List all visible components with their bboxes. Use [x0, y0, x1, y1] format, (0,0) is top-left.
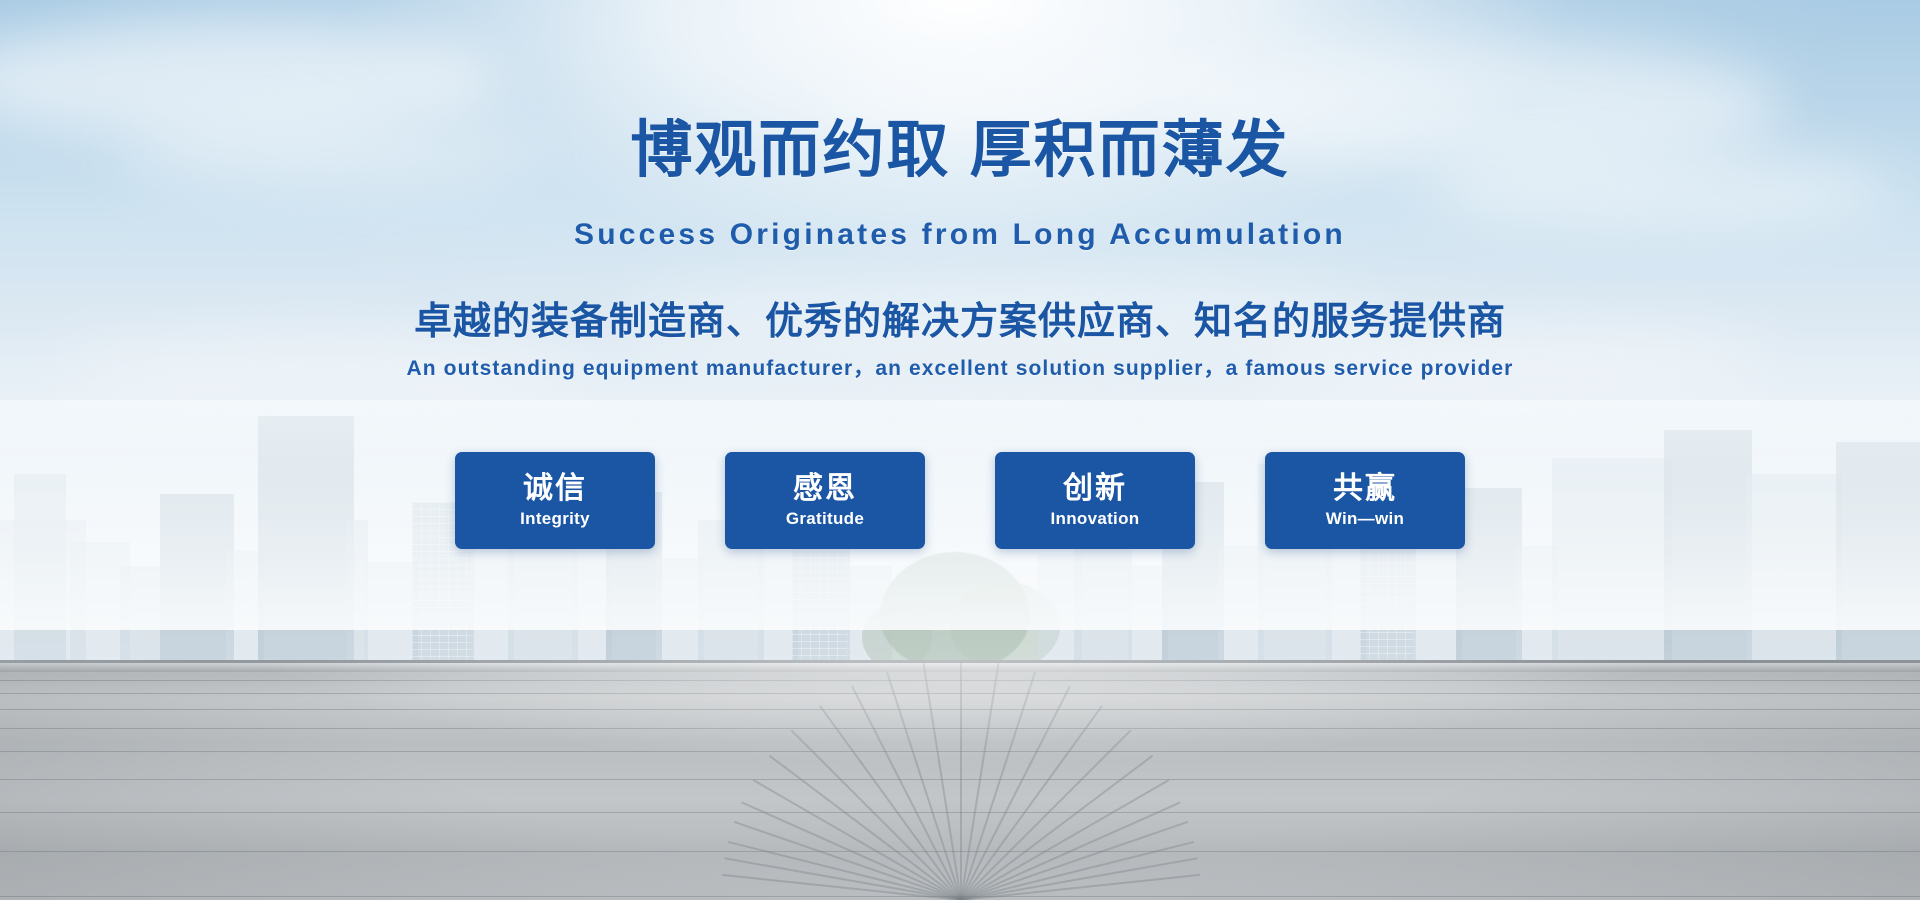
value-card-label-en: Gratitude [786, 509, 864, 529]
banner-content: 博观而约取 厚积而薄发 Success Originates from Long… [0, 0, 1920, 900]
value-card-label-en: Innovation [1051, 509, 1140, 529]
value-card-label-cn: 创新 [1063, 472, 1127, 507]
headline-english: Success Originates from Long Accumulatio… [0, 218, 1920, 252]
value-card-label-en: Win—win [1326, 509, 1404, 529]
value-card-integrity[interactable]: 诚信 Integrity [455, 452, 655, 549]
subheadline-chinese: 卓越的装备制造商、优秀的解决方案供应商、知名的服务提供商 [0, 290, 1920, 345]
value-card-gratitude[interactable]: 感恩 Gratitude [725, 452, 925, 549]
value-card-label-cn: 诚信 [523, 472, 587, 507]
value-card-label-cn: 感恩 [793, 472, 857, 507]
subheadline-english: An outstanding equipment manufacturer，an… [0, 352, 1920, 382]
value-card-win-win[interactable]: 共赢 Win—win [1265, 452, 1465, 549]
value-card-innovation[interactable]: 创新 Innovation [995, 452, 1195, 549]
value-card-label-en: Integrity [520, 509, 590, 529]
headline-chinese: 博观而约取 厚积而薄发 [0, 118, 1920, 183]
value-card-label-cn: 共赢 [1333, 472, 1397, 507]
hero-banner: 博观而约取 厚积而薄发 Success Originates from Long… [0, 0, 1920, 900]
core-values-card-list: 诚信 Integrity 感恩 Gratitude 创新 Innovation … [0, 452, 1920, 549]
